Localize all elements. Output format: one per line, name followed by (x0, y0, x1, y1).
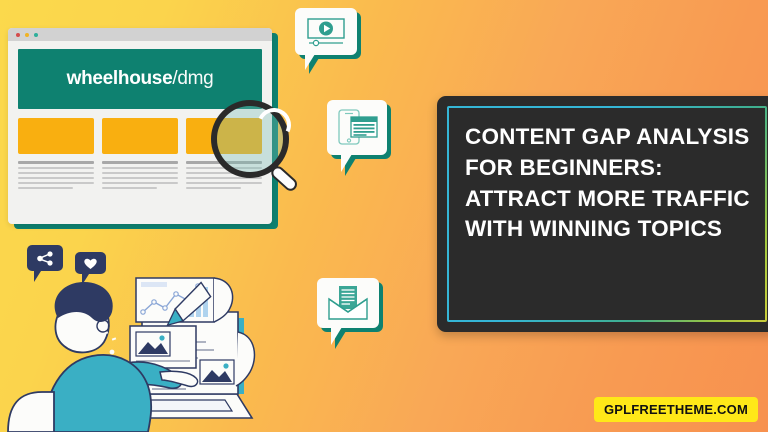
site-text-block (18, 161, 94, 192)
site-card (102, 118, 178, 154)
site-text-block (102, 161, 178, 192)
watermark-badge: GPLFREETHEME.COM (594, 397, 758, 422)
site-logo-bold: wheelhouse (67, 68, 173, 89)
title-panel: CONTENT GAP ANALYSIS FOR BEGINNERS: ATTR… (437, 96, 768, 332)
bubble-mobile-web (327, 100, 387, 155)
bubble-email (317, 278, 379, 328)
video-player-icon (306, 17, 346, 47)
email-envelope-icon (326, 285, 370, 321)
traffic-light-maximize-icon (34, 33, 38, 37)
page-title: CONTENT GAP ANALYSIS FOR BEGINNERS: ATTR… (465, 122, 759, 245)
site-card (18, 118, 94, 154)
traffic-light-close-icon (16, 33, 20, 37)
browser-titlebar (8, 28, 272, 41)
magnifying-glass-icon (211, 100, 297, 186)
traffic-light-minimize-icon (25, 33, 29, 37)
site-logo: wheelhouse/dmg (67, 68, 214, 90)
bubble-video (295, 8, 357, 55)
banner-canvas: wheelhouse/dmg (0, 0, 768, 432)
site-logo-light: /dmg (172, 68, 213, 89)
mobile-browser-icon (334, 108, 380, 148)
person-working-illustration (0, 222, 300, 432)
